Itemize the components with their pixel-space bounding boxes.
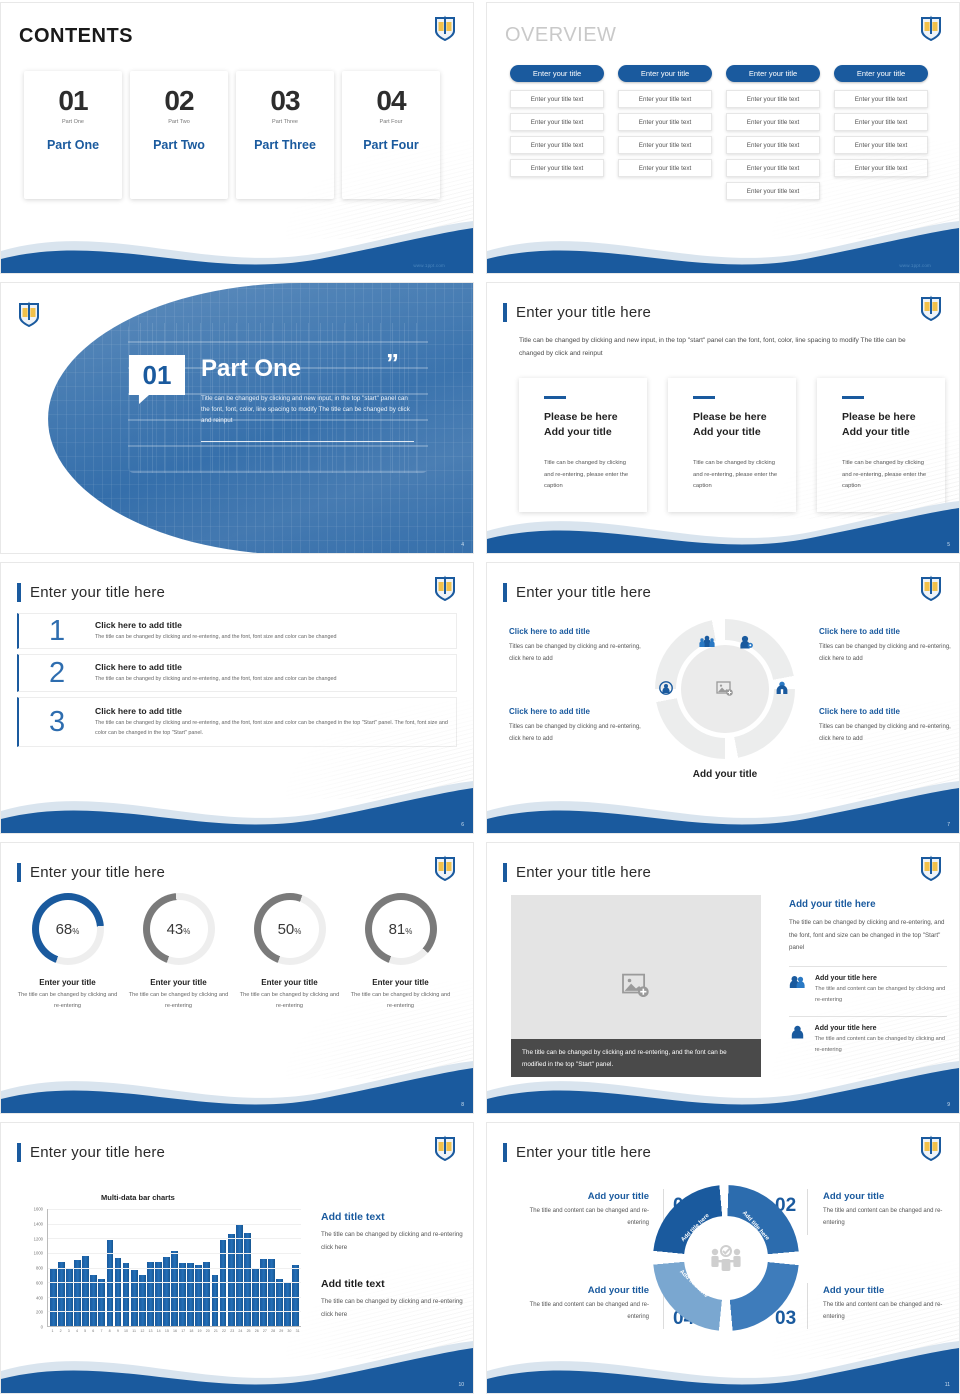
section-description: Title can be changed by clicking and new… [201,393,416,426]
card-heading-line1: Please be here [842,411,916,423]
y-tick-label: 400 [36,1295,43,1300]
slide-title-text: Enter your title here [30,1144,165,1161]
x-tick-label: 1 [49,1329,56,1333]
bar [187,1263,194,1326]
bar [268,1259,275,1326]
x-tick-label: 10 [123,1329,130,1333]
wave-footer [1,1051,473,1113]
cycle-center [684,1216,768,1300]
card-accent-dash [544,396,566,399]
two-people-icon [789,975,806,991]
title-accent-bar [17,583,21,602]
cycle-text-04[interactable]: Add your title The title and content can… [519,1285,649,1323]
percent-item[interactable]: 81% Enter your title The title can be ch… [348,893,453,1012]
item-heading: Add your title [823,1191,953,1202]
percent-value: 50 [278,921,295,938]
person-circle-icon [659,681,673,695]
bar [155,1262,162,1326]
overview-box[interactable]: Enter your title text [834,159,928,177]
numbered-row-list: 1 Click here to add title The title can … [17,613,457,752]
side-body-1: The title can be changed by clicking and… [321,1229,471,1254]
x-tick-label: 20 [204,1329,211,1333]
item-heading: Add your title [519,1285,649,1296]
page-number: 11 [945,1382,950,1388]
plot-area [47,1209,301,1327]
bar [195,1265,202,1326]
contents-card[interactable]: 02 Part Two Part Two [130,71,228,199]
overview-box[interactable]: Enter your title text [510,113,604,131]
section-number-badge: 01 [129,355,185,395]
item-body: The title and content can be changed and… [519,1206,649,1229]
single-person-icon [789,1025,806,1041]
diagram-text-top-right[interactable]: Click here to add title Titles can be ch… [819,627,951,666]
right-paragraph: The title can be changed by clicking and… [789,917,947,955]
item-body: The title can be changed by clicking and… [15,990,120,1012]
y-tick-label: 1000 [34,1251,43,1256]
x-tick-label: 12 [139,1329,146,1333]
feature-card[interactable]: Please be hereAdd your title Title can b… [668,378,796,512]
diagram-text-bottom-right[interactable]: Click here to add title Titles can be ch… [819,707,951,746]
x-tick-label: 13 [147,1329,154,1333]
overview-box[interactable]: Enter your title text [726,159,820,177]
section-title: Part One [201,355,301,383]
item-heading: Click here to add title [819,707,951,716]
diagram-caption: Add your title [655,769,795,780]
slide-9-bar-chart[interactable]: Enter your title here Multi-data bar cha… [0,1122,474,1394]
x-tick-label: 18 [188,1329,195,1333]
y-tick-label: 800 [36,1266,43,1271]
bar [228,1234,235,1326]
percent-value: 81 [389,921,406,938]
contents-card[interactable]: 03 Part Three Part Three [236,71,334,199]
side-heading-1: Add title text [321,1211,471,1223]
overview-box[interactable]: Enter your title text [726,113,820,131]
bar [147,1262,154,1326]
row-heading: Click here to add title [95,662,450,672]
chart-title: Multi-data bar charts [101,1193,175,1202]
slide-deck-thumbnail-grid: CONTENTS 01 Part One Part One 02 Part Tw… [0,0,960,1400]
item-heading: Enter your title [126,978,231,987]
y-tick-label: 1600 [34,1207,43,1212]
overview-box[interactable]: Enter your title text [726,136,820,154]
slide-title-text: Enter your title here [30,864,165,881]
card-label: Part Three [236,138,334,152]
item-body: The title and content can be changed and… [823,1300,953,1323]
page-number: 8 [461,1102,464,1108]
x-tick-label: 15 [163,1329,170,1333]
wave-footer [487,211,959,273]
card-heading-line2: Add your title [544,426,612,438]
card-subtitle: Part One [24,119,122,125]
card-body: Title can be changed by clicking and re-… [842,458,928,493]
item-body: The title and content can be changed and… [519,1300,649,1323]
x-tick-label: 28 [270,1329,277,1333]
slide-6-circular-diagram[interactable]: Enter your title here Click here to add … [486,562,960,834]
column-title-pill[interactable]: Enter your title [618,65,712,82]
cycle-diagram[interactable]: Add title here Add title here Add title … [653,1185,799,1331]
donut-diagram[interactable] [655,619,795,759]
university-shield-logo-icon [919,1135,943,1163]
card-heading-line2: Add your title [693,426,761,438]
x-tick-label: 5 [82,1329,89,1333]
gridline [48,1297,301,1298]
row-heading: Click here to add title [95,620,450,630]
bar [50,1269,57,1326]
title-accent-bar [503,863,507,882]
card-heading-line1: Please be here [544,411,618,423]
item-heading: Add your title [823,1285,953,1296]
person-settings-icon [739,635,753,649]
percent-value: 43 [167,921,184,938]
overview-column: Enter your title Enter your title text E… [725,65,821,200]
list-item[interactable]: Add your title here The title and conten… [789,1025,947,1055]
title-accent-bar [503,583,507,602]
row-body: The title can be changed by clicking and… [95,675,450,684]
contents-card[interactable]: 01 Part One Part One [24,71,122,199]
slide-title-text: Enter your title here [516,584,651,601]
card-heading-line1: Please be here [693,411,767,423]
card-number: 03 [236,87,334,115]
bar [82,1256,89,1326]
bar [179,1263,186,1326]
x-tick-label: 3 [65,1329,72,1333]
divider [789,1016,947,1017]
slide-title: Enter your title here [503,1143,651,1162]
item-heading: Enter your title [15,978,120,987]
x-tick-label: 2 [57,1329,64,1333]
image-placeholder-icon [621,973,651,999]
title-accent-bar [503,303,507,322]
x-tick-label: 25 [245,1329,252,1333]
y-tick-label: 1400 [34,1221,43,1226]
card-row: Please be hereAdd your title Title can b… [519,378,945,512]
item-heading: Click here to add title [509,707,641,716]
item-body: The title can be changed by clicking and… [126,990,231,1012]
bar-chart[interactable]: 02004006008001000120014001600 1234567891… [19,1209,301,1341]
page-number: 4 [461,542,464,548]
item-heading: Click here to add title [509,627,641,636]
cycle-text-01[interactable]: Add your title The title and content can… [519,1191,649,1229]
university-shield-logo-icon [919,855,943,883]
divider [807,1283,808,1329]
contents-card-list: 01 Part One Part One 02 Part Two Part Tw… [24,71,440,199]
quote-mark-icon: ” [386,353,399,374]
row-number: 2 [49,659,95,688]
slide-title: Enter your title here [17,583,165,602]
page-number: 7 [947,822,950,828]
bar [58,1262,65,1326]
x-tick-label: 24 [237,1329,244,1333]
x-tick-label: 14 [155,1329,162,1333]
list-item-body: The title and content can be changed by … [815,1034,947,1055]
y-axis: 02004006008001000120014001600 [19,1209,45,1327]
overview-box[interactable]: Enter your title text [510,159,604,177]
slide-title-text: Enter your title here [30,584,165,601]
y-tick-label: 600 [36,1280,43,1285]
right-title: Add your title here [789,899,947,910]
slide-7-percent-donuts[interactable]: Enter your title here 68% Enter your tit… [0,842,474,1114]
percent-donut-grid: 68% Enter your title The title can be ch… [15,893,453,1012]
bar [260,1259,267,1326]
item-body: Titles can be changed by clicking and re… [509,641,641,666]
right-content: Add your title here The title can be cha… [789,899,947,1062]
x-tick-label: 4 [74,1329,81,1333]
bar [171,1251,178,1326]
x-tick-label: 31 [294,1329,301,1333]
item-heading: Enter your title [348,978,453,987]
x-tick-label: 11 [131,1329,138,1333]
x-axis: 1234567891011121314151617181920212223242… [49,1329,301,1333]
x-tick-label: 6 [90,1329,97,1333]
university-shield-logo-icon [919,575,943,603]
overview-box[interactable]: Enter your title text [726,90,820,108]
item-body: Titles can be changed by clicking and re… [509,721,641,746]
watermark: www.1ppt.com [899,263,931,268]
overview-column: Enter your title Enter your title text E… [617,65,713,200]
page-title: OVERVIEW [505,24,616,47]
list-item-heading: Add your title here [815,975,947,982]
divider [807,1189,808,1235]
slide-title-text: Enter your title here [516,304,651,321]
percent-donut: 81% [365,893,437,965]
y-tick-label: 0 [41,1325,43,1330]
image-placeholder-icon [716,681,734,697]
column-title-pill[interactable]: Enter your title [834,65,928,82]
numbered-row[interactable]: 3 Click here to add title The title can … [17,697,457,747]
x-tick-label: 21 [212,1329,219,1333]
x-tick-label: 7 [98,1329,105,1333]
team-success-icon [708,1243,744,1273]
x-tick-label: 27 [261,1329,268,1333]
chart-side-text: Add title text The title can be changed … [321,1211,471,1322]
slide-3-section-divider[interactable]: 01 Part One ” Title can be changed by cl… [0,282,474,554]
bar [276,1279,283,1326]
item-body: The title can be changed by clicking and… [237,990,342,1012]
title-accent-bar [17,1143,21,1162]
overview-box[interactable]: Enter your title text [618,90,712,108]
slide-10-cycle-diagram[interactable]: Enter your title here Add your title The… [486,1122,960,1394]
card-accent-dash [842,396,864,399]
wave-footer [1,771,473,833]
overview-column: Enter your title Enter your title text E… [833,65,929,200]
item-body: Titles can be changed by clicking and re… [819,721,951,746]
x-tick-label: 19 [196,1329,203,1333]
university-shield-logo-icon [433,855,457,883]
percent-unit: % [72,927,79,936]
card-label: Part Two [130,138,228,152]
list-item-heading: Add your title here [815,1025,947,1032]
gridline [48,1224,301,1225]
feature-card[interactable]: Please be hereAdd your title Title can b… [519,378,647,512]
item-heading: Add your title [519,1191,649,1202]
slide-title-text: Enter your title here [516,864,651,881]
item-heading: Click here to add title [819,627,951,636]
bar [98,1279,105,1326]
x-tick-label: 23 [229,1329,236,1333]
bar [131,1270,138,1326]
percent-item[interactable]: 50% Enter your title The title can be ch… [237,893,342,1012]
card-subtitle: Part Three [236,119,334,125]
bar [284,1282,291,1326]
card-number: 01 [24,87,122,115]
gridline [48,1253,301,1254]
bar [115,1258,122,1326]
university-shield-logo-icon [919,295,943,323]
column-title-pill[interactable]: Enter your title [726,65,820,82]
card-subtitle: Part Two [130,119,228,125]
page-number: 6 [461,822,464,828]
slide-5-numbered-list[interactable]: Enter your title here 1 Click here to ad… [0,562,474,834]
gridline [48,1311,301,1312]
gridline [48,1282,301,1283]
divider [789,966,947,967]
page-number: 9 [947,1102,950,1108]
row-body: The title can be changed by clicking and… [95,633,450,642]
y-tick-label: 200 [36,1310,43,1315]
overview-box[interactable]: Enter your title text [510,90,604,108]
university-shield-logo-icon [17,301,41,329]
x-tick-label: 16 [172,1329,179,1333]
slide-title-text: Enter your title here [516,1144,651,1161]
row-number: 1 [49,617,95,646]
percent-unit: % [405,927,412,936]
overview-columns: Enter your title Enter your title text E… [509,65,929,200]
card-body: Title can be changed by clicking and re-… [544,458,630,493]
numbered-row[interactable]: 1 Click here to add title The title can … [17,613,457,649]
contents-card[interactable]: 04 Part Four Part Four [342,71,440,199]
gridline [48,1268,301,1269]
overview-box[interactable]: Enter your title text [834,113,928,131]
percent-donut: 68% [32,893,104,965]
divider-rule [201,441,414,442]
overview-box[interactable]: Enter your title text [834,90,928,108]
percent-donut: 43% [143,893,215,965]
overview-box[interactable]: Enter your title text [618,136,712,154]
percent-donut: 50% [254,893,326,965]
university-shield-logo-icon [919,15,943,43]
page-title: CONTENTS [19,25,133,48]
gridline [48,1209,301,1210]
wave-footer [1,211,473,273]
slide-title: Enter your title here [503,303,651,322]
percent-value: 68 [56,921,73,938]
bar [203,1262,210,1326]
row-number: 3 [49,708,95,737]
overview-box[interactable]: Enter your title text [726,182,820,200]
card-accent-dash [693,396,715,399]
slide-1-contents[interactable]: CONTENTS 01 Part One Part One 02 Part Tw… [0,2,474,274]
percent-item[interactable]: 68% Enter your title The title can be ch… [15,893,120,1012]
item-body: The title can be changed by clicking and… [348,990,453,1012]
side-heading-2: Add title text [321,1278,471,1290]
overview-column: Enter your title Enter your title text E… [509,65,605,200]
bar [244,1233,251,1326]
overview-box[interactable]: Enter your title text [834,136,928,154]
diagram-text-top-left[interactable]: Click here to add title Titles can be ch… [509,627,641,666]
card-subtitle: Part Four [342,119,440,125]
list-item[interactable]: Add your title here The title and conten… [789,975,947,1005]
slide-title: Enter your title here [503,863,651,882]
wave-footer [487,1331,959,1393]
cycle-text-03[interactable]: Add your title The title and content can… [823,1285,953,1323]
numbered-row[interactable]: 2 Click here to add title The title can … [17,654,457,692]
x-tick-label: 30 [286,1329,293,1333]
university-shield-logo-icon [433,1135,457,1163]
x-tick-label: 26 [253,1329,260,1333]
person-badge-icon [775,681,789,695]
x-tick-label: 29 [278,1329,285,1333]
card-label: Part Four [342,138,440,152]
side-body-2: The title can be changed by clicking and… [321,1296,471,1321]
title-accent-bar [17,863,21,882]
slide-title: Enter your title here [17,863,165,882]
gridline [48,1238,301,1239]
percent-item[interactable]: 43% Enter your title The title can be ch… [126,893,231,1012]
slide-title: Enter your title here [17,1143,165,1162]
diagram-text-bottom-left[interactable]: Click here to add title Titles can be ch… [509,707,641,746]
x-tick-label: 22 [221,1329,228,1333]
x-tick-label: 9 [114,1329,121,1333]
x-tick-label: 8 [106,1329,113,1333]
university-shield-logo-icon [433,575,457,603]
item-body: The title and content can be changed and… [823,1206,953,1229]
card-body: Title can be changed by clicking and re-… [693,458,779,493]
overview-box[interactable]: Enter your title text [618,159,712,177]
card-label: Part One [24,138,122,152]
y-tick-label: 1200 [34,1236,43,1241]
page-number: 5 [947,542,950,548]
slide-4-three-cards[interactable]: Enter your title here Title can be chang… [486,282,960,554]
x-tick-label: 17 [180,1329,187,1333]
card-number: 04 [342,87,440,115]
slide-title: Enter your title here [503,583,651,602]
list-item-body: The title and content can be changed by … [815,984,947,1005]
cycle-text-02[interactable]: Add your title The title and content can… [823,1191,953,1229]
image-caption: The title can be changed by clicking and… [511,1039,761,1077]
title-accent-bar [503,1143,507,1162]
slide-8-image-and-list[interactable]: Enter your title here The title can be c… [486,842,960,1114]
column-title-pill[interactable]: Enter your title [510,65,604,82]
percent-unit: % [294,927,301,936]
group-people-icon [699,635,715,648]
item-heading: Enter your title [237,978,342,987]
percent-unit: % [183,927,190,936]
card-heading-line2: Add your title [842,426,910,438]
row-heading: Click here to add title [95,706,450,716]
bar [123,1263,130,1326]
overview-box[interactable]: Enter your title text [618,113,712,131]
overview-box[interactable]: Enter your title text [510,136,604,154]
page-number: 10 [458,1382,464,1388]
watermark: www.1ppt.com [413,263,445,268]
lead-paragraph: Title can be changed by clicking and new… [519,335,929,361]
item-body: Titles can be changed by clicking and re… [819,641,951,666]
donut-center [681,645,769,733]
feature-card[interactable]: Please be hereAdd your title Title can b… [817,378,945,512]
bar [292,1265,299,1326]
diagram-wrapper: Click here to add title Titles can be ch… [487,619,960,794]
row-body: The title can be changed by clicking and… [95,719,450,738]
card-number: 02 [130,87,228,115]
bar [74,1260,81,1326]
university-shield-logo-icon [433,15,457,43]
slide-2-overview[interactable]: OVERVIEW Enter your title Enter your tit… [486,2,960,274]
